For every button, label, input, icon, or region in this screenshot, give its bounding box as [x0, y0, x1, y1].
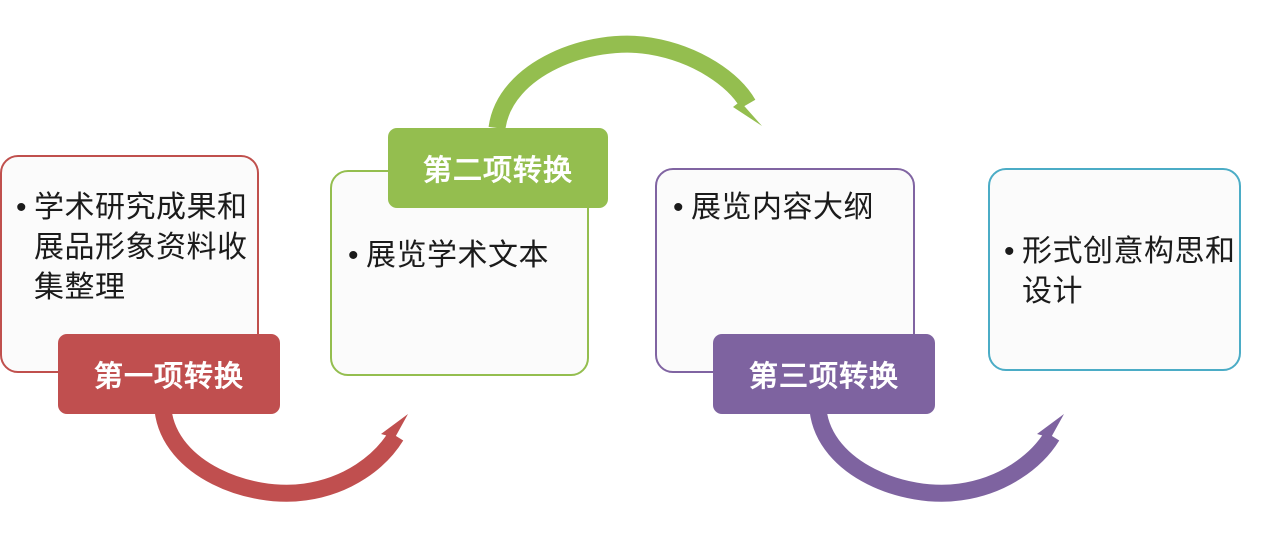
diagram-canvas: • 学术研究成果和展品形象资料收集整理 • 展览学术文本 • 展览内容大纲 • …: [0, 0, 1264, 544]
arrow-green: [497, 44, 762, 128]
bullet-icon-3: •: [673, 188, 691, 228]
node-label-design-concept: 形式创意构思和设计: [1022, 232, 1236, 312]
badge-third-transformation[interactable]: 第三项转换: [713, 334, 935, 414]
bullet-icon-1: •: [16, 188, 34, 228]
node-text-container-4: • 形式创意构思和设计: [1004, 232, 1236, 312]
badge-label-2: 第二项转换: [423, 147, 573, 189]
badge-second-transformation[interactable]: 第二项转换: [388, 128, 608, 208]
badge-first-transformation[interactable]: 第一项转换: [58, 334, 280, 414]
node-text-container-2: • 展览学术文本: [348, 236, 580, 276]
bullet-icon-2: •: [348, 236, 366, 276]
badge-label-1: 第一项转换: [94, 353, 244, 395]
node-label-academic-research: 学术研究成果和展品形象资料收集整理: [34, 188, 254, 309]
node-text-container-1: • 学术研究成果和展品形象资料收集整理: [16, 188, 254, 309]
bullet-icon-4: •: [1004, 232, 1022, 272]
node-text-container-3: • 展览内容大纲: [673, 188, 909, 228]
node-label-academic-text: 展览学术文本: [366, 236, 549, 276]
arrow-red: [163, 410, 408, 493]
node-label-content-outline: 展览内容大纲: [691, 188, 874, 228]
arrow-purple: [818, 410, 1064, 493]
badge-label-3: 第三项转换: [749, 353, 899, 395]
